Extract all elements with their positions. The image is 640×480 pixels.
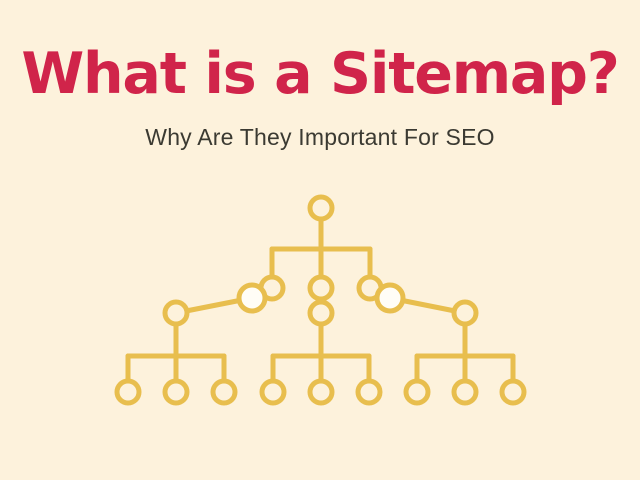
sitemap-node-level-2-middle (310, 277, 332, 299)
sitemap-node-root (310, 197, 332, 219)
sitemap-node-leaf-2 (165, 381, 187, 403)
sitemap-node-level-3-right-node (377, 285, 403, 311)
sitemap-node-leaf-7 (406, 381, 428, 403)
sitemap-node-leaf-9 (502, 381, 524, 403)
sitemap-node-leaf-6 (358, 381, 380, 403)
sitemap-node-level-3-left-node (239, 285, 265, 311)
sitemap-node-level-3-middle (310, 302, 332, 324)
page-title: What is a Sitemap? (0, 42, 640, 106)
sitemap-node-leaf-8 (454, 381, 476, 403)
page-subtitle: Why Are They Important For SEO (0, 122, 640, 152)
sitemap-node-leaf-3 (213, 381, 235, 403)
sitemap-node-leaf-1 (117, 381, 139, 403)
sitemap-node-leaf-5 (310, 381, 332, 403)
sitemap-diagram (0, 180, 640, 420)
sitemap-node-leaf-4 (262, 381, 284, 403)
sitemap-poster: What is a Sitemap? Why Are They Importan… (0, 0, 640, 480)
sitemap-tree-svg (0, 180, 640, 420)
sitemap-node-level-3-right (454, 302, 476, 324)
sitemap-node-level-3-left (165, 302, 187, 324)
